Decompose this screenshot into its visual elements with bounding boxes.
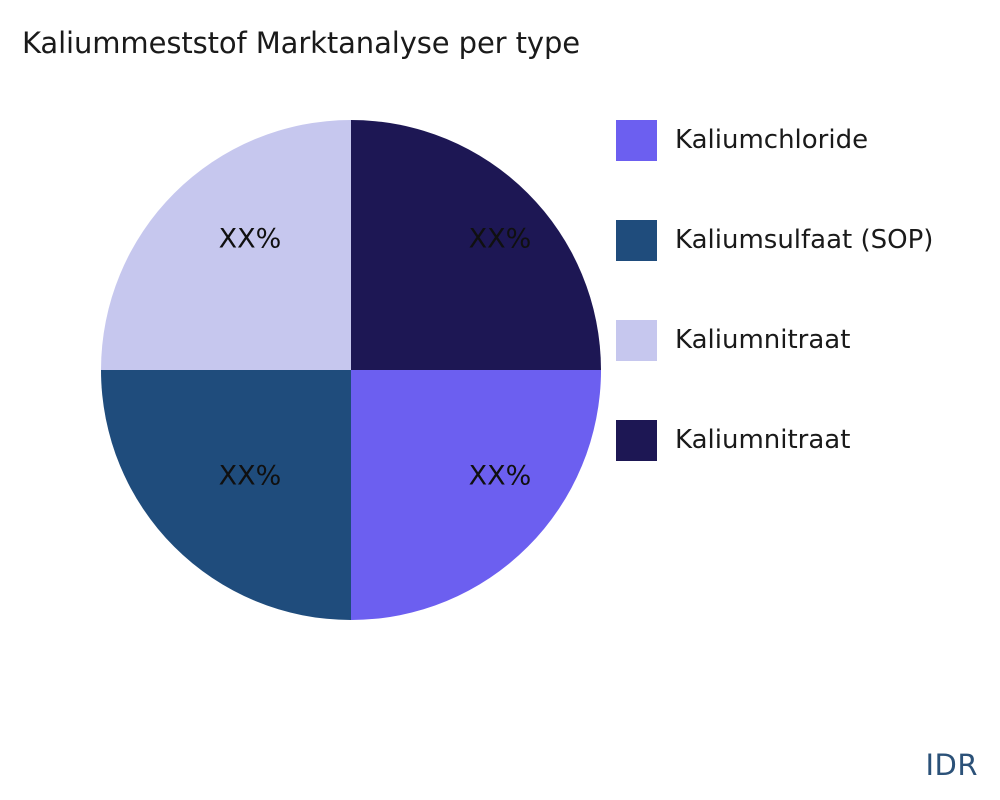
legend-item-1[interactable]: Kaliumsulfaat (SOP) [616, 220, 996, 320]
pie-slice-1[interactable] [101, 370, 351, 620]
pie-chart-figure: Kaliummeststof Marktanalyse per type XX%… [0, 0, 1000, 800]
pie-slice-0[interactable] [351, 370, 601, 620]
legend-swatch-icon-3 [616, 420, 657, 461]
pie-slice-label-3: XX% [469, 224, 532, 255]
legend-label-0: Kaliumchloride [675, 118, 868, 163]
legend-item-2[interactable]: Kaliumnitraat [616, 320, 996, 420]
legend-label-2: Kaliumnitraat [675, 318, 850, 363]
legend-item-0[interactable]: Kaliumchloride [616, 120, 996, 220]
chart-title: Kaliummeststof Marktanalyse per type [22, 24, 580, 62]
legend-swatch-icon-2 [616, 320, 657, 361]
pie-slice-label-2: XX% [219, 224, 282, 255]
watermark-logo: IDR [925, 748, 978, 782]
pie-plot-area: XX% XX% XX% XX% [101, 120, 601, 620]
pie-slice-label-1: XX% [219, 461, 282, 492]
chart-legend: Kaliumchloride Kaliumsulfaat (SOP) Kaliu… [616, 120, 996, 520]
legend-swatch-icon-0 [616, 120, 657, 161]
pie-slice-label-0: XX% [469, 461, 532, 492]
legend-swatch-icon-1 [616, 220, 657, 261]
legend-label-3: Kaliumnitraat [675, 418, 850, 463]
legend-label-1: Kaliumsulfaat (SOP) [675, 218, 933, 263]
pie-svg: XX% XX% XX% XX% [101, 120, 601, 620]
legend-item-3[interactable]: Kaliumnitraat [616, 420, 996, 520]
